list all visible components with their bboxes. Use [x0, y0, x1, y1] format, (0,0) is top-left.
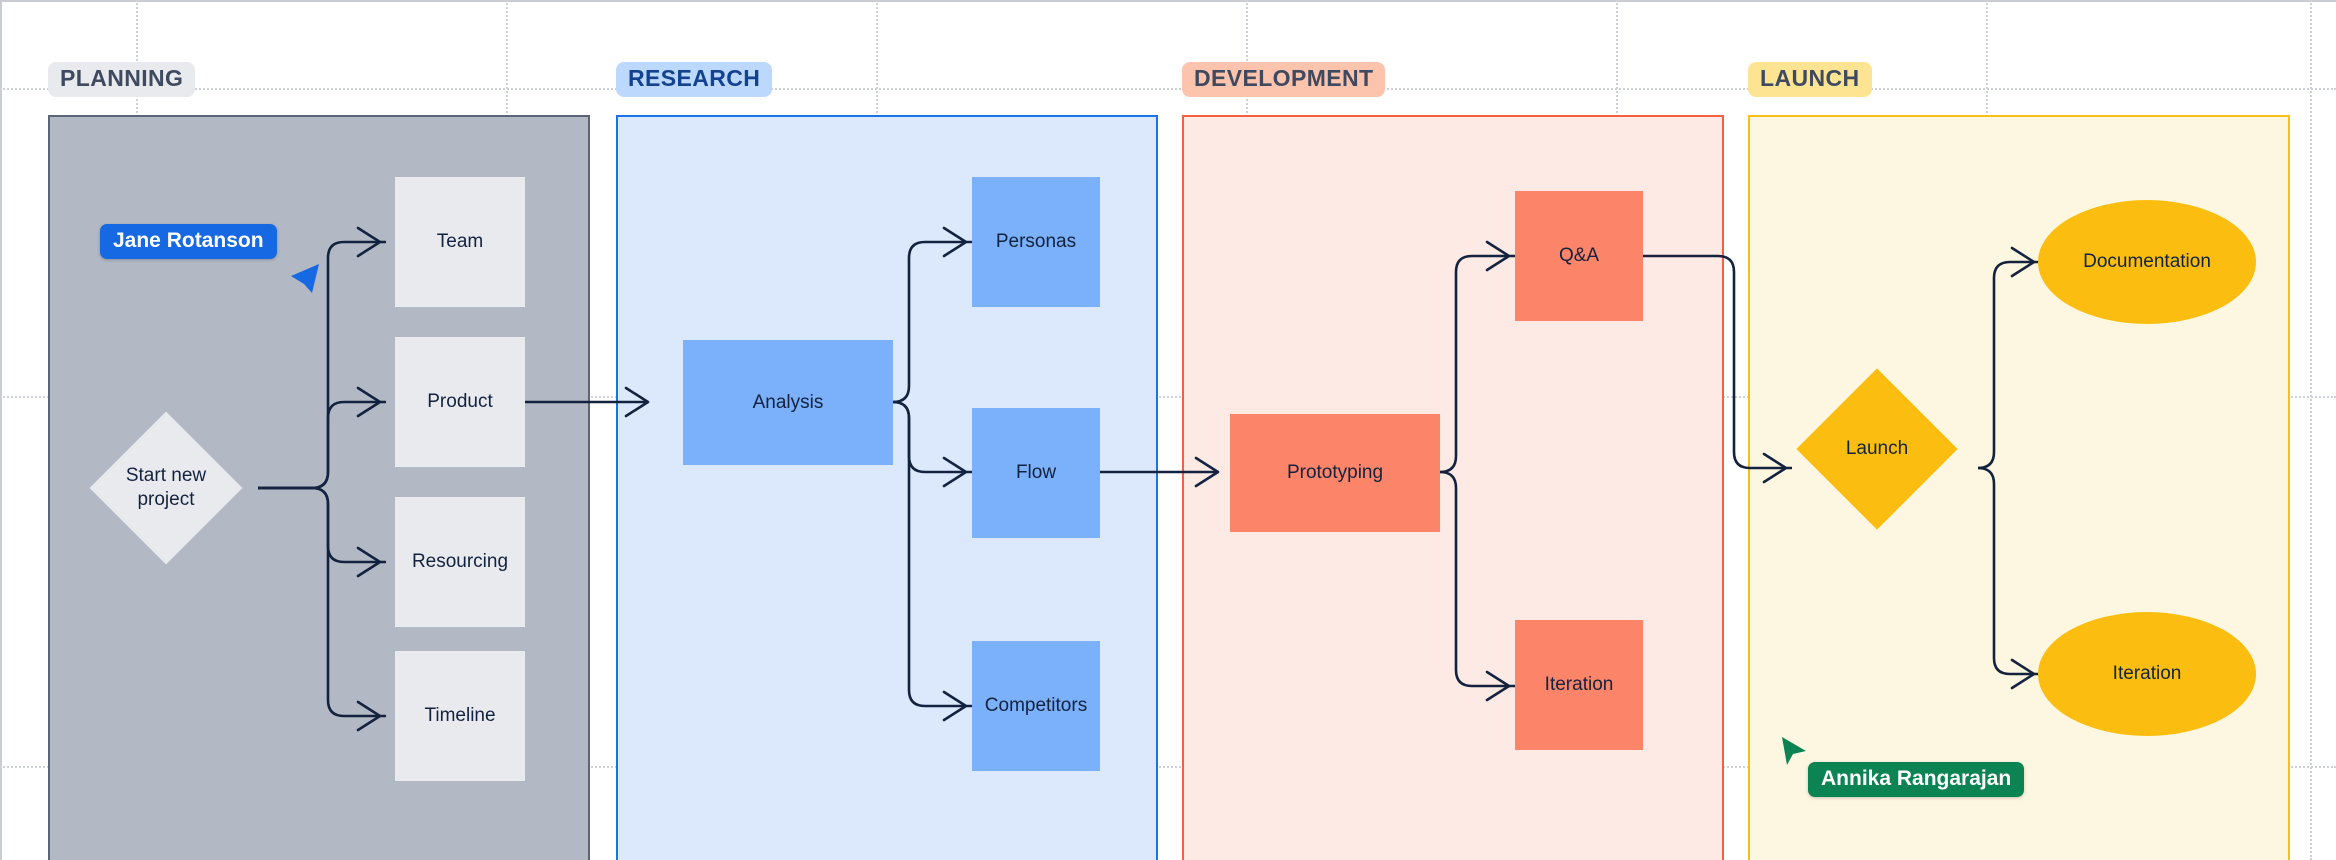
node-team[interactable]: Team	[395, 177, 525, 307]
node-resourcing[interactable]: Resourcing	[395, 497, 525, 627]
node-analysis[interactable]: Analysis	[683, 340, 893, 465]
node-competitors[interactable]: Competitors	[972, 641, 1100, 771]
node-launch-iteration[interactable]: Iteration	[2038, 612, 2256, 736]
collaborator-cursor-pointer-jane-icon	[289, 262, 325, 296]
node-label: Launch	[1820, 392, 1934, 506]
node-personas[interactable]: Personas	[972, 177, 1100, 307]
collaborator-cursor-label-jane[interactable]: Jane Rotanson	[100, 224, 277, 259]
node-label: Personas	[996, 230, 1076, 254]
whiteboard-canvas[interactable]: PLANNING RESEARCH DEVELOPMENT LAUNCH	[0, 0, 2336, 860]
node-label: Iteration	[2113, 662, 2182, 686]
lane-label-development[interactable]: DEVELOPMENT	[1182, 62, 1385, 97]
node-start-new-project[interactable]: Start newproject	[112, 434, 220, 542]
collaborator-cursor-label-annika[interactable]: Annika Rangarajan	[1808, 762, 2024, 797]
node-dev-iteration[interactable]: Iteration	[1515, 620, 1643, 750]
node-product[interactable]: Product	[395, 337, 525, 467]
node-label: Resourcing	[412, 550, 508, 574]
node-launch[interactable]: Launch	[1820, 392, 1934, 506]
node-label: Flow	[1016, 461, 1056, 485]
gridline-horizontal	[0, 88, 2336, 90]
node-label: Timeline	[424, 704, 495, 728]
lane-label-planning[interactable]: PLANNING	[48, 62, 195, 97]
node-label: Documentation	[2083, 250, 2211, 274]
node-prototyping[interactable]: Prototyping	[1230, 414, 1440, 532]
node-flow[interactable]: Flow	[972, 408, 1100, 538]
node-documentation[interactable]: Documentation	[2038, 200, 2256, 324]
node-label: Start newproject	[86, 434, 246, 542]
node-label: Q&A	[1559, 244, 1599, 268]
node-timeline[interactable]: Timeline	[395, 651, 525, 781]
node-label: Team	[437, 230, 483, 254]
lane-label-research[interactable]: RESEARCH	[616, 62, 772, 97]
node-label: Analysis	[753, 391, 824, 415]
node-qa[interactable]: Q&A	[1515, 191, 1643, 321]
node-label: Prototyping	[1287, 461, 1383, 485]
node-label: Iteration	[1545, 673, 1614, 697]
node-label: Product	[427, 390, 492, 414]
collaborator-cursor-pointer-annika-icon	[1780, 735, 1810, 769]
lane-label-launch[interactable]: LAUNCH	[1748, 62, 1872, 97]
node-label: Competitors	[985, 694, 1087, 718]
gridline-vertical	[2310, 0, 2312, 860]
